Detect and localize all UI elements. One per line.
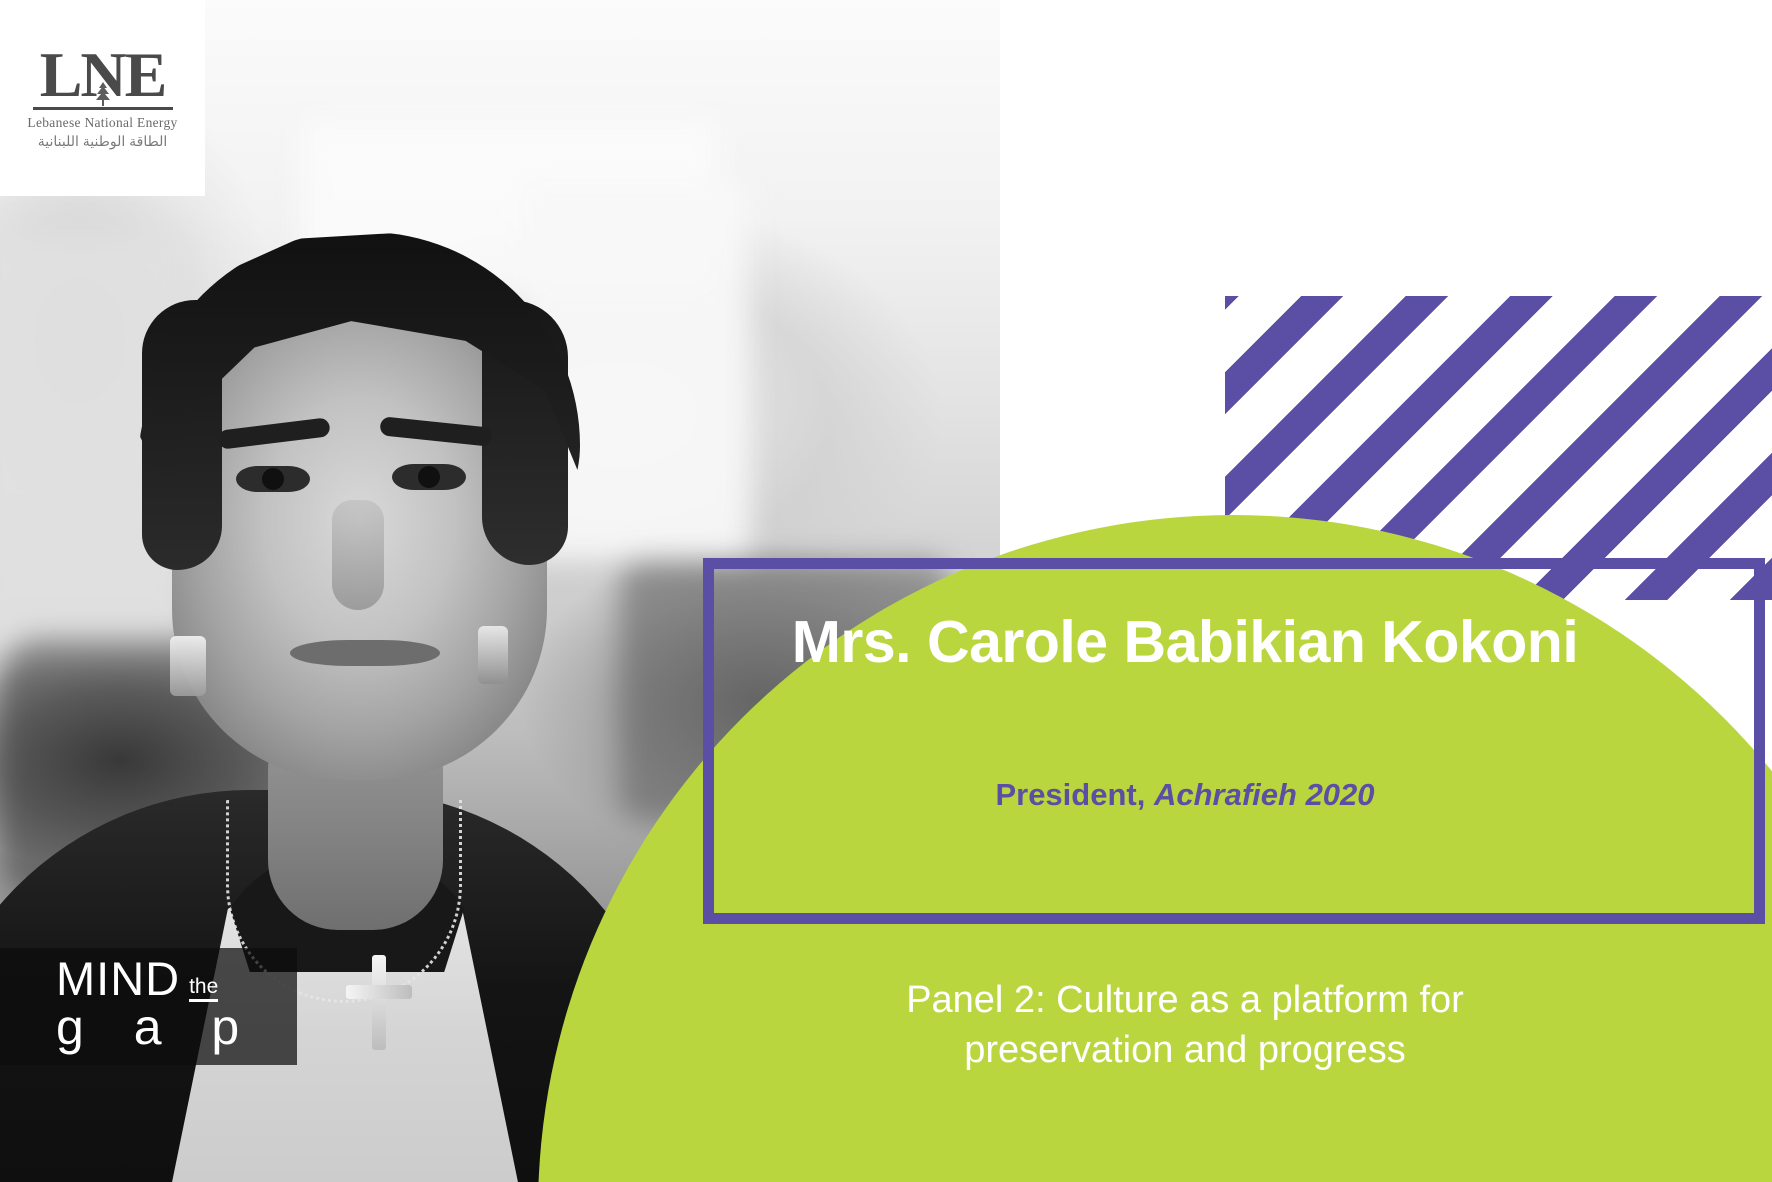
portrait-earring-right [478, 626, 508, 684]
portrait-pupil-right [418, 466, 440, 488]
portrait-nose [332, 500, 384, 610]
speaker-role: President, Achrafieh 2020 [640, 776, 1730, 813]
panel-title: Panel 2: Culture as a platform for prese… [640, 975, 1730, 1075]
badge-word-gap: g a p [56, 998, 297, 1056]
portrait-cross-pendant [372, 955, 386, 1050]
cedar-tree-icon [91, 81, 115, 107]
mind-the-gap-badge: MIND the g a p [0, 948, 297, 1065]
badge-word-mind: MIND [56, 957, 180, 1002]
portrait-cross-pendant-bar [346, 985, 412, 999]
speaker-role-title: President, [995, 777, 1145, 812]
panel-title-line-2: preservation and progress [640, 1025, 1730, 1075]
speaker-name: Mrs. Carole Babikian Kokoni [640, 612, 1730, 674]
lne-logo-subtitle-ar: الطاقة الوطنية اللبنانية [38, 133, 168, 150]
lne-logo: LNE Lebanese National Energy الطاقة الوط… [0, 0, 205, 196]
panel-title-line-1: Panel 2: Culture as a platform for [640, 975, 1730, 1025]
portrait-earring-left [170, 636, 206, 696]
speaker-role-organisation: Achrafieh 2020 [1154, 777, 1375, 812]
portrait-mouth [290, 640, 440, 666]
portrait-pupil-left [262, 468, 284, 490]
presentation-slide: Mrs. Carole Babikian Kokoni President, A… [0, 0, 1772, 1182]
lne-logo-subtitle-en: Lebanese National Energy [27, 115, 177, 131]
mind-the-gap-row-top: MIND the [56, 957, 297, 1002]
lne-logo-mark: LNE [40, 46, 166, 104]
